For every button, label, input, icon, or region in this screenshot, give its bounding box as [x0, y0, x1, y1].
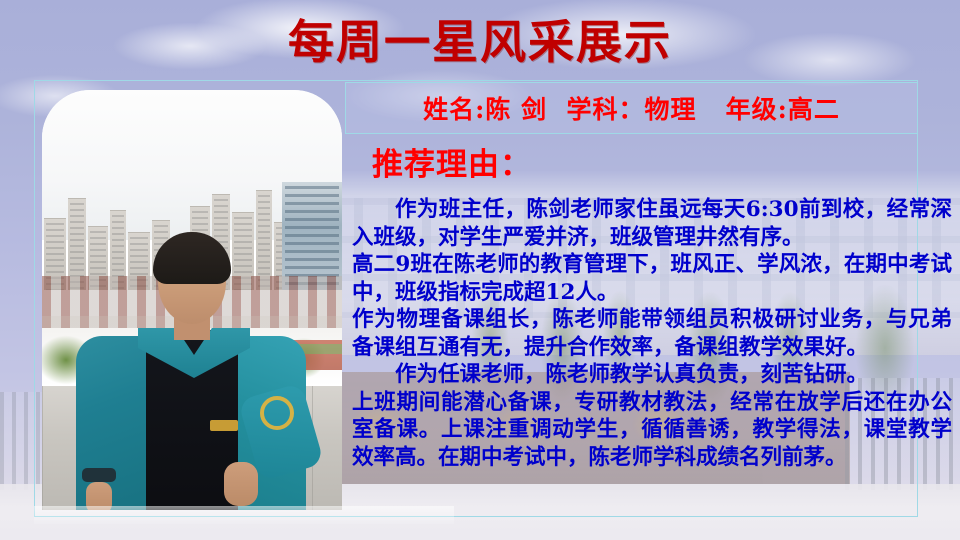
photo-hand-right — [224, 462, 258, 506]
photo-chest-logo — [210, 420, 238, 431]
photo-reflection — [34, 506, 454, 524]
recommendation-heading: 推荐理由： — [372, 139, 532, 184]
recommendation-body: 作为班主任，陈剑老师家住虽远每天6:30前到校，经常深入班级，对学生严爱并济，班… — [352, 196, 952, 471]
slide-canvas: 每周一星风采展示 — [0, 0, 960, 540]
recommendation-paragraph: 作为物理备课组长，陈老师能带领组员积极研讨业务，与兄弟备课组互通有无，提升合作效… — [352, 306, 952, 361]
photo-person — [42, 90, 342, 510]
teacher-info-line: 姓名:陈 剑 学科：物理 年级:高二 — [423, 90, 840, 126]
recommendation-paragraph: 上班期间能潜心备课，专研教材教法，经常在放学后还在办公室备课。上课注重调动学生，… — [352, 389, 952, 472]
teacher-info-box: 姓名:陈 剑 学科：物理 年级:高二 — [345, 82, 918, 134]
teacher-photo — [42, 90, 342, 510]
photo-jacket-logo — [260, 396, 294, 430]
recommendation-paragraph: 作为班主任，陈剑老师家住虽远每天6:30前到校，经常深入班级，对学生严爱并济，班… — [352, 196, 952, 251]
recommendation-paragraph: 作为任课老师，陈老师教学认真负责，刻苦钻研。 — [352, 361, 952, 389]
recommendation-paragraph: 高二9班在陈老师的教育管理下，班风正、学风浓，在期中考试中，班级指标完成超12人… — [352, 251, 952, 306]
photo-cuff-left — [82, 468, 116, 482]
page-title: 每周一星风采展示 — [0, 6, 960, 72]
photo-hair — [153, 232, 231, 284]
